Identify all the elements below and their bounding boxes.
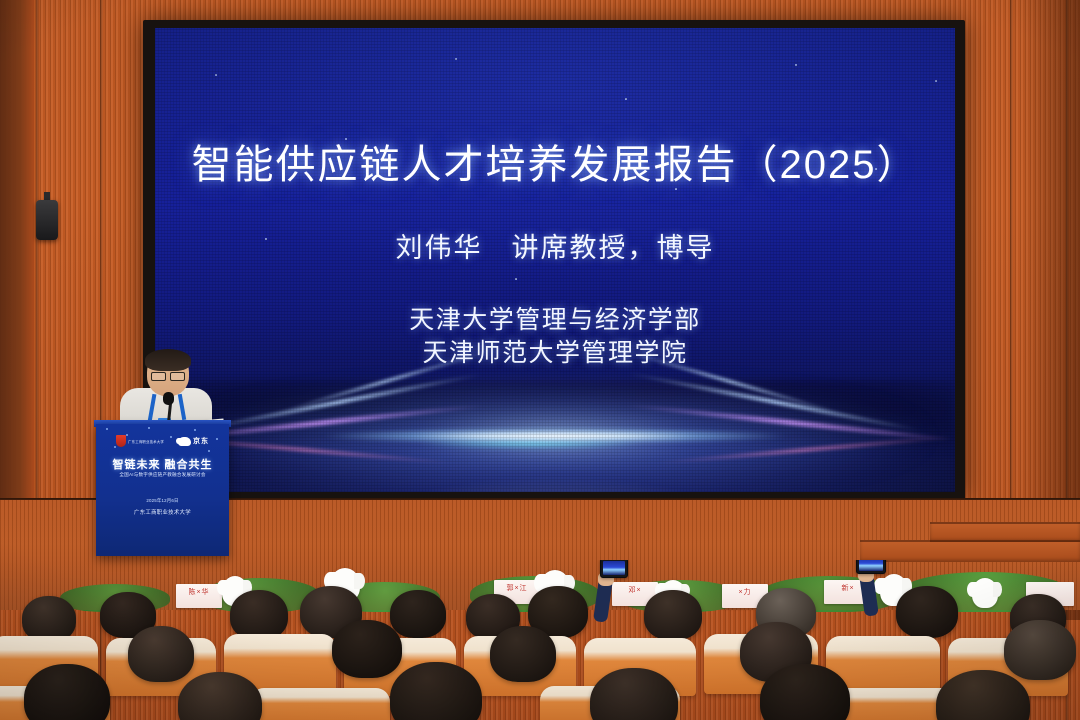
wall-left-shadow-panel <box>0 0 34 560</box>
crest-icon <box>116 435 126 447</box>
podium-banner-panel: 广东工商职业技术大学 京东 智链未来 融合共生 全国AI与数字供应链产教融合发展… <box>96 424 229 556</box>
audience-head <box>128 626 194 682</box>
slide-speaker-line: 刘伟华 讲席教授，博导 <box>155 226 955 265</box>
audience-head <box>896 586 958 638</box>
wall-speaker-loudspeaker-icon <box>36 200 58 240</box>
smartphone-icon[interactable] <box>856 560 886 574</box>
jd-dog-icon <box>178 437 191 446</box>
name-placard: 陈×华 <box>176 584 222 608</box>
slide-affiliation-2: 天津师范大学管理学院 <box>155 333 955 369</box>
university-crest-logo: 广东工商职业技术大学 <box>116 435 164 447</box>
podium-headline: 智链未来 融合共生 <box>96 456 229 472</box>
conference-photo-scene: 智能供应链人才培养发展报告（2025） 刘伟华 讲席教授，博导 天津大学管理与经… <box>0 0 1080 720</box>
audience-head <box>1004 620 1076 680</box>
audience-head <box>24 664 110 720</box>
audience-head <box>230 590 288 640</box>
placard-text: ×力 <box>722 587 768 597</box>
audience-head <box>332 620 402 678</box>
led-screen: 智能供应链人才培养发展报告（2025） 刘伟华 讲席教授，博导 天津大学管理与经… <box>155 28 955 492</box>
audience-area: 陈×华 郭×江 邓× ×力 新× <box>0 560 1080 720</box>
audience-head <box>644 590 702 640</box>
speaker-hair <box>145 349 191 371</box>
speaker-glasses-left <box>151 372 166 381</box>
audience-head <box>490 626 556 682</box>
jd-logo: 京东 <box>178 436 209 446</box>
audience-head <box>390 590 446 638</box>
podium-logo-row: 广东工商职业技术大学 京东 <box>96 433 229 449</box>
stage-step <box>930 522 1080 542</box>
auditorium-seat[interactable] <box>250 688 390 720</box>
jd-joy-plush <box>972 578 998 608</box>
jd-logo-text: 京东 <box>193 436 209 446</box>
speaker-glasses-right <box>170 372 185 381</box>
podium-date: 2025年12月6日 <box>96 498 229 504</box>
placard-text: 邓× <box>612 585 658 595</box>
stage-step-line <box>860 540 1080 542</box>
slide-title: 智能供应链人才培养发展报告（2025） <box>155 132 955 190</box>
microphone-icon <box>163 392 174 405</box>
podium-subtitle: 全国AI与数字供应链产教融合发展研讨会 <box>96 472 229 478</box>
smartphone-icon[interactable] <box>600 560 628 578</box>
slide-affiliation-1: 天津大学管理与经济学部 <box>155 300 955 336</box>
placard-text: 陈×华 <box>176 587 222 597</box>
university-logo-text: 广东工商职业技术大学 <box>128 439 164 444</box>
stage-step-line <box>930 522 1080 524</box>
podium-venue: 广东工商职业技术大学 <box>96 508 229 516</box>
